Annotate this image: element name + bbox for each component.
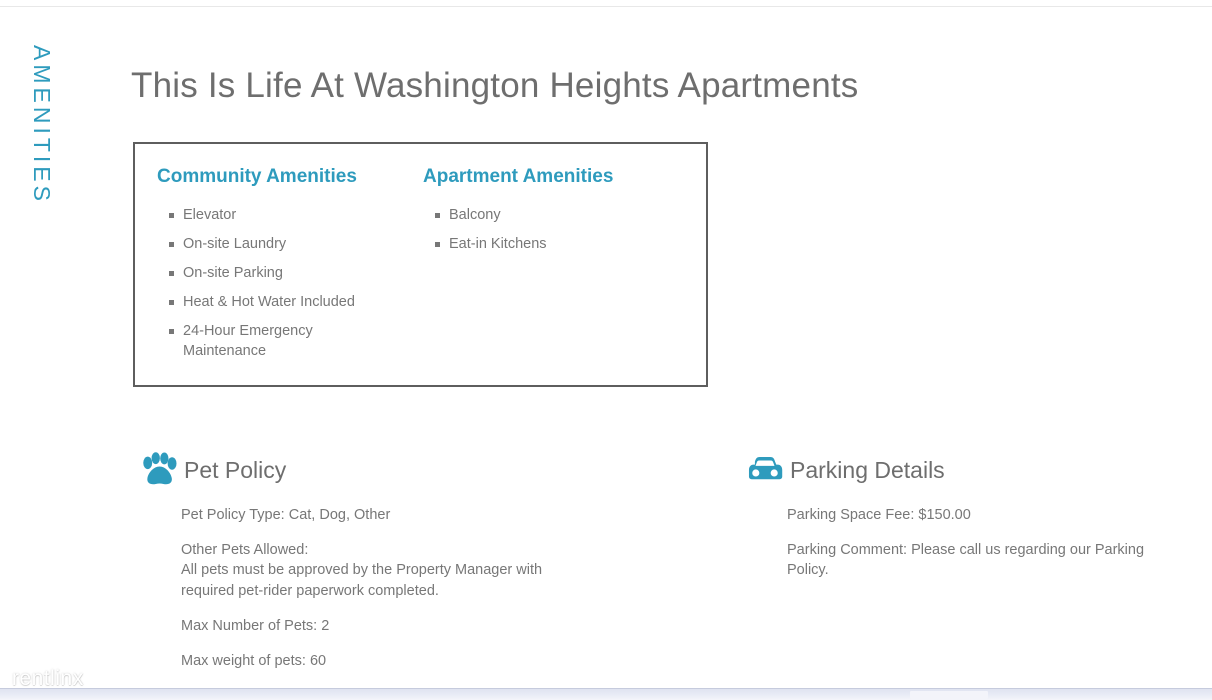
community-amenities-heading: Community Amenities xyxy=(157,166,401,189)
pet-policy-section: Pet Policy Pet Policy Type: Cat, Dog, Ot… xyxy=(140,450,700,700)
pet-policy-other-pets-allowed: Other Pets Allowed: All pets must be app… xyxy=(181,540,561,602)
list-item: Heat & Hot Water Included xyxy=(157,292,372,312)
parking-details-section: Parking Details Parking Space Fee: $150.… xyxy=(746,450,1176,581)
top-divider xyxy=(0,6,1212,7)
list-item: On-site Parking xyxy=(157,263,372,283)
pet-policy-max-weight: Max weight of pets: 60 xyxy=(181,651,561,672)
scrollbar-thumb[interactable] xyxy=(910,691,988,699)
list-item: 24-Hour Emergency Maintenance xyxy=(157,321,372,361)
apartment-amenities-list: Balcony Eat-in Kitchens xyxy=(423,205,681,254)
section-tab-amenities: AMENITIES xyxy=(30,45,70,205)
amenities-columns: Community Amenities Elevator On-site Lau… xyxy=(135,144,706,370)
parking-details-body: Parking Space Fee: $150.00 Parking Comme… xyxy=(746,505,1176,581)
list-item: Eat-in Kitchens xyxy=(423,234,638,254)
car-icon xyxy=(746,452,784,488)
pet-policy-body: Pet Policy Type: Cat, Dog, Other Other P… xyxy=(140,505,700,700)
parking-comment: Parking Comment: Please call us regardin… xyxy=(787,540,1152,581)
page-root: AMENITIES This Is Life At Washington Hei… xyxy=(0,0,1212,700)
page-title: This Is Life At Washington Heights Apart… xyxy=(131,65,859,107)
list-item: Elevator xyxy=(157,205,372,225)
parking-details-header: Parking Details xyxy=(746,450,1176,490)
list-item: On-site Laundry xyxy=(157,234,372,254)
community-amenities-column: Community Amenities Elevator On-site Lau… xyxy=(135,166,401,370)
pet-policy-type: Pet Policy Type: Cat, Dog, Other xyxy=(181,505,561,526)
parking-space-fee: Parking Space Fee: $150.00 xyxy=(787,505,1152,526)
pet-policy-max-number: Max Number of Pets: 2 xyxy=(181,616,561,637)
pet-policy-header: Pet Policy xyxy=(140,450,700,490)
parking-details-title: Parking Details xyxy=(790,459,945,482)
community-amenities-list: Elevator On-site Laundry On-site Parking… xyxy=(157,205,401,361)
pet-policy-title: Pet Policy xyxy=(184,459,286,482)
apartment-amenities-column: Apartment Amenities Balcony Eat-in Kitch… xyxy=(401,166,681,370)
amenities-box: Community Amenities Elevator On-site Lau… xyxy=(133,142,708,387)
bottom-scrollbar[interactable] xyxy=(0,688,1212,700)
section-tab-label: AMENITIES xyxy=(30,45,53,205)
paw-print-icon xyxy=(140,452,178,488)
rentlinx-watermark: rentlinx xyxy=(12,668,84,689)
apartment-amenities-heading: Apartment Amenities xyxy=(423,166,681,189)
list-item: Balcony xyxy=(423,205,638,225)
